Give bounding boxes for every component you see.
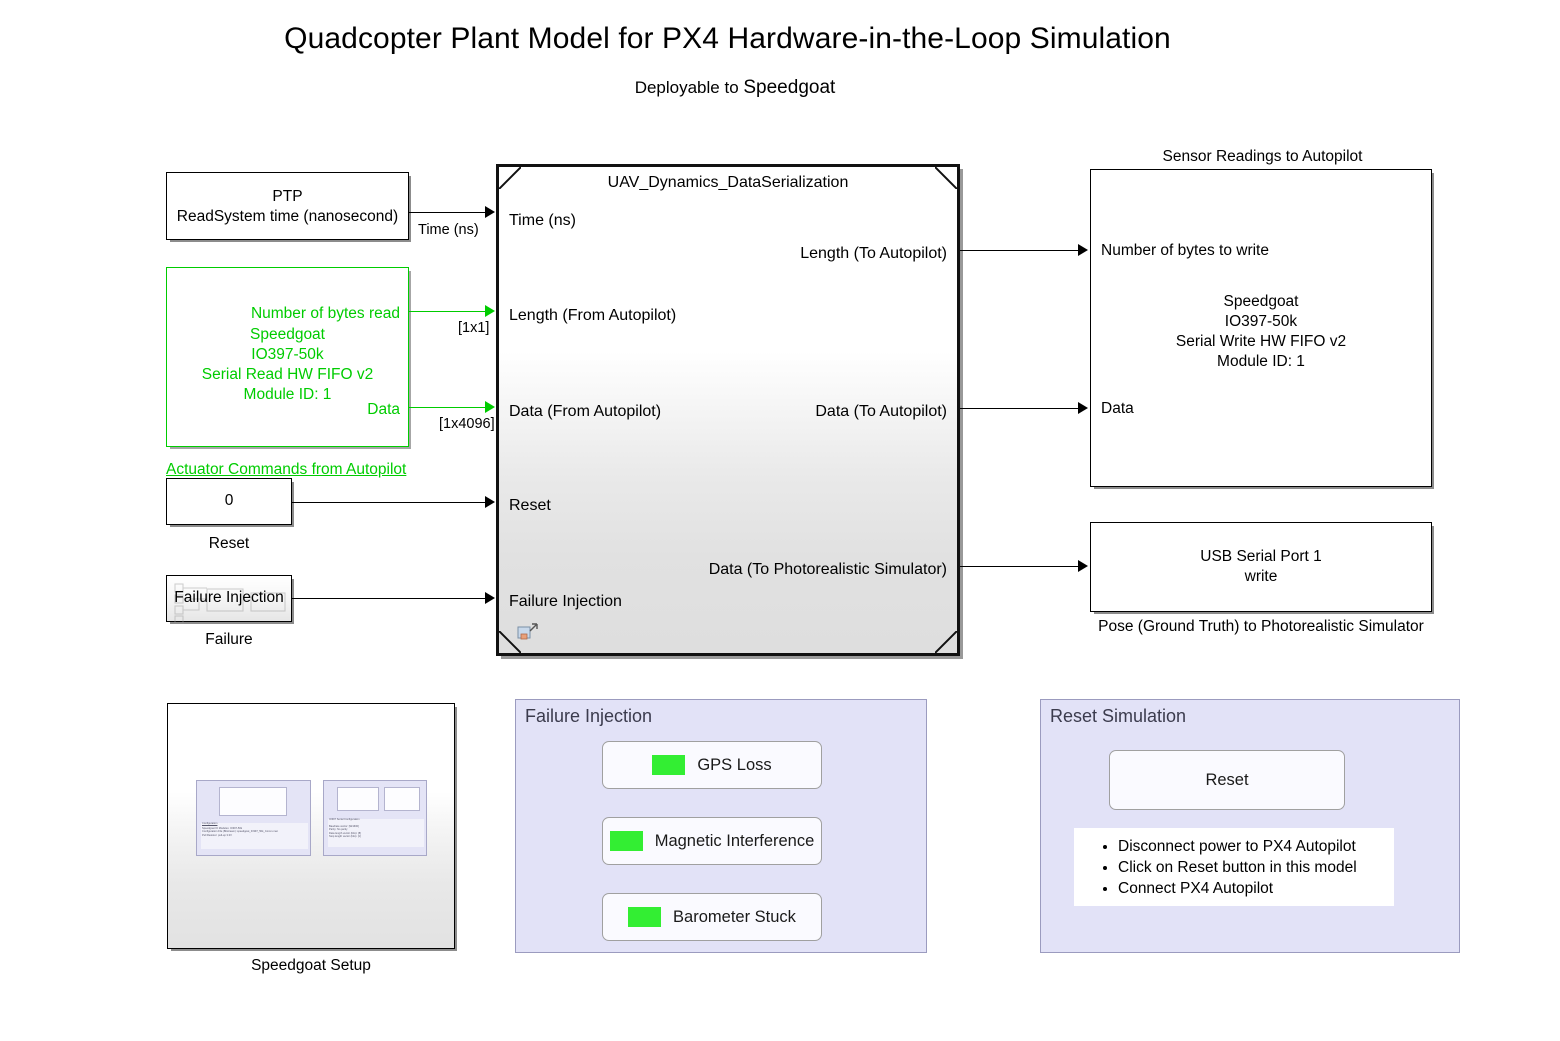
- serial-write-in-port-2-label: Data: [1101, 400, 1134, 418]
- failure-subsystem-text: Failure Injection: [167, 589, 291, 607]
- signal-label-time-ns: Time (ns): [418, 222, 479, 238]
- wire-ptp-to-time: [409, 212, 487, 213]
- thumbnail-config-lines-left: Speedgoat IO Modules: IO397-50k Configur…: [202, 827, 278, 837]
- reset-simulation-panel-title: Reset Simulation: [1050, 706, 1186, 727]
- reset-constant-value: 0: [167, 491, 291, 511]
- reset-instructions-note: Disconnect power to PX4 Autopilot Click …: [1074, 828, 1394, 906]
- arrowhead-data-in: [1078, 402, 1088, 414]
- wire-data-to-autopilot: [960, 408, 1080, 409]
- ptp-block-text: PTP ReadSystem time (nanosecond): [167, 187, 408, 227]
- thumbnail-config-heading-right: IO397 Serial Configuration: [329, 818, 360, 821]
- arrowhead-reset-in: [485, 496, 495, 508]
- central-output-data-to-autopilot: Data (To Autopilot): [815, 403, 947, 421]
- wire-data-to-photorealistic-simulator: [960, 566, 1080, 567]
- reset-constant-label: Reset: [166, 535, 292, 553]
- speedgoat-setup-label: Speedgoat Setup: [167, 957, 455, 975]
- annotation-pose-ground-truth: Pose (Ground Truth) to Photorealistic Si…: [1090, 618, 1432, 636]
- central-input-failure-injection: Failure Injection: [509, 593, 622, 611]
- simulink-model-canvas: Quadcopter Plant Model for PX4 Hardware-…: [0, 0, 1560, 1041]
- arrowhead-length-from-autopilot: [485, 305, 495, 317]
- thumbnail-config-card-right: IO397 Serial Configuration Baudrate vect…: [323, 780, 427, 856]
- wire-data-from-autopilot: [409, 407, 487, 408]
- central-input-length-from-autopilot: Length (From Autopilot): [509, 307, 676, 325]
- reset-button-label: Reset: [1205, 771, 1248, 790]
- failure-injection-panel: Failure Injection GPS Loss Magnetic Inte…: [515, 699, 927, 953]
- serial-read-out-port-2-label: Data: [367, 401, 400, 419]
- failure-injection-subsystem-block[interactable]: Failure Injection: [166, 575, 292, 622]
- thumbnail-config-card-left: Configuration Speedgoat IO Modules: IO39…: [196, 780, 311, 856]
- serial-read-out-port-1-label: Number of bytes read: [251, 305, 400, 323]
- wire-length-to-autopilot: [960, 250, 1080, 251]
- open-subsystem-icon[interactable]: [517, 623, 539, 643]
- thumbnail-config-lines-right: Baudrate vector: [921600] Parity: No par…: [329, 825, 361, 839]
- central-block-title: UAV_Dynamics_DataSerialization: [499, 174, 957, 192]
- toggle-gps-loss[interactable]: GPS Loss: [602, 741, 822, 789]
- corner-cut-bottom-right: [935, 631, 957, 653]
- lamp-magnetic-interference: [610, 831, 643, 851]
- central-input-data-from-autopilot: Data (From Autopilot): [509, 403, 661, 421]
- lamp-barometer-stuck: [628, 907, 661, 927]
- speedgoat-serial-read-block[interactable]: Number of bytes read Speedgoat IO397-50k…: [166, 267, 409, 447]
- thumbnail-config-inner-right-b: [384, 787, 420, 811]
- wire-length-from-autopilot: [409, 311, 487, 312]
- reset-instruction-item: Connect PX4 Autopilot: [1118, 878, 1394, 899]
- toggle-barometer-stuck[interactable]: Barometer Stuck: [602, 893, 822, 941]
- central-output-length-to-autopilot: Length (To Autopilot): [800, 245, 947, 263]
- toggle-barometer-stuck-label: Barometer Stuck: [673, 908, 796, 927]
- reset-simulation-panel: Reset Simulation Reset Disconnect power …: [1040, 699, 1460, 953]
- usb-serial-block-text: USB Serial Port 1 write: [1091, 547, 1431, 587]
- thumbnail-config-heading-left: Configuration: [202, 822, 217, 825]
- signal-label-length-dim: [1x1]: [458, 320, 489, 336]
- toggle-magnetic-interference-label: Magnetic Interference: [655, 832, 815, 851]
- arrowhead-time-in: [485, 206, 495, 218]
- reset-constant-block[interactable]: 0: [166, 478, 292, 525]
- ptp-read-system-time-block[interactable]: PTP ReadSystem time (nanosecond): [166, 172, 409, 240]
- arrowhead-usb-serial-in: [1078, 560, 1088, 572]
- wire-failure-to-central: [292, 598, 487, 599]
- page-title: Quadcopter Plant Model for PX4 Hardware-…: [0, 22, 1455, 56]
- annotation-actuator-commands: Actuator Commands from Autopilot: [166, 461, 406, 479]
- wire-reset-to-central: [292, 502, 487, 503]
- lamp-gps-loss: [652, 755, 685, 775]
- signal-label-data-dim: [1x4096]: [439, 416, 495, 432]
- reset-instruction-item: Click on Reset button in this model: [1118, 857, 1394, 878]
- page-subtitle: Deployable to Speedgoat: [0, 77, 1470, 99]
- usb-serial-port-write-block[interactable]: USB Serial Port 1 write: [1090, 522, 1432, 612]
- central-input-time-ns: Time (ns): [509, 212, 576, 230]
- arrowhead-failure-in: [485, 592, 495, 604]
- failure-subsystem-label: Failure: [166, 631, 292, 649]
- thumbnail-config-inner-left: [219, 787, 287, 816]
- arrowhead-data-from-autopilot: [485, 401, 495, 413]
- uav-dynamics-dataserialization-block[interactable]: UAV_Dynamics_DataSerialization Time (ns)…: [496, 164, 960, 656]
- central-input-reset: Reset: [509, 497, 551, 515]
- reset-instruction-item: Disconnect power to PX4 Autopilot: [1118, 836, 1394, 857]
- page-subtitle-brand: Speedgoat: [743, 77, 835, 98]
- serial-read-body-text: Speedgoat IO397-50k Serial Read HW FIFO …: [167, 325, 408, 405]
- speedgoat-serial-write-block[interactable]: Number of bytes to write Speedgoat IO397…: [1090, 169, 1432, 487]
- central-output-data-to-photorealistic-simulator: Data (To Photorealistic Simulator): [709, 561, 947, 579]
- serial-write-in-port-1-label: Number of bytes to write: [1101, 242, 1269, 260]
- serial-write-body-text: Speedgoat IO397-50k Serial Write HW FIFO…: [1091, 292, 1431, 372]
- arrowhead-number-of-bytes-to-write: [1078, 244, 1088, 256]
- toggle-gps-loss-label: GPS Loss: [697, 756, 771, 775]
- toggle-magnetic-interference[interactable]: Magnetic Interference: [602, 817, 822, 865]
- page-subtitle-prefix: Deployable to: [635, 78, 744, 97]
- annotation-sensor-readings-to-autopilot: Sensor Readings to Autopilot: [1090, 148, 1435, 166]
- failure-injection-panel-title: Failure Injection: [525, 706, 652, 727]
- speedgoat-setup-block[interactable]: Configuration Speedgoat IO Modules: IO39…: [167, 703, 455, 949]
- reset-button[interactable]: Reset: [1109, 750, 1345, 810]
- thumbnail-config-inner-right-a: [337, 787, 379, 811]
